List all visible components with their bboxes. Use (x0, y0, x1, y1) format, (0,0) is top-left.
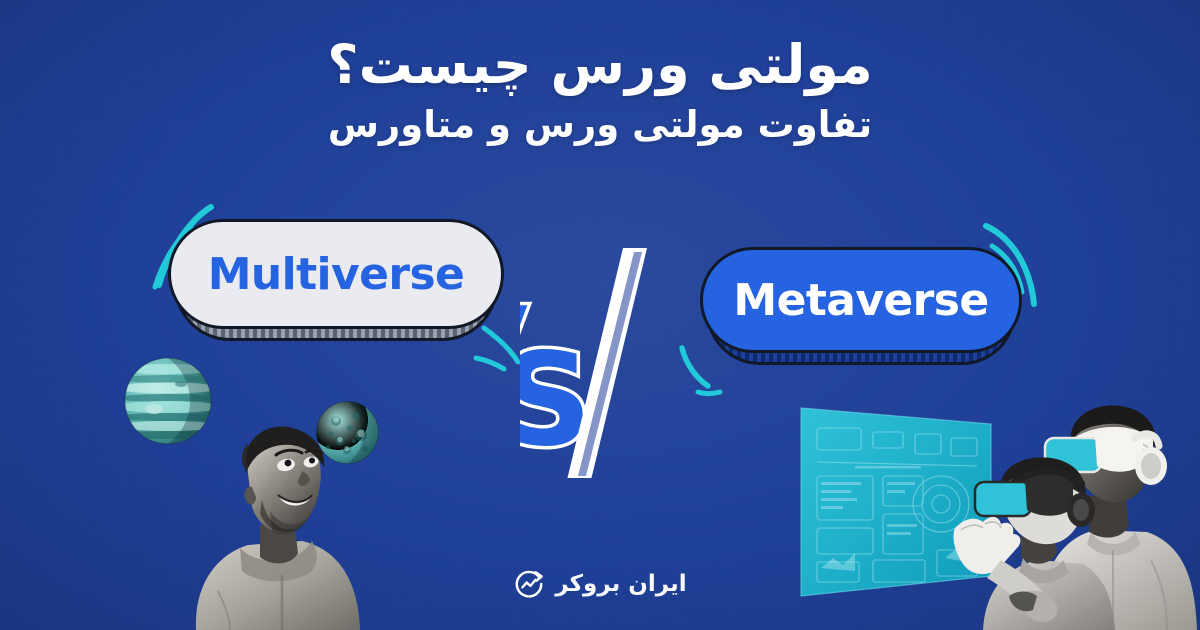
page-title: مولتی ورس چیست؟ (0, 34, 1200, 97)
multiverse-pill-face: Multiverse (168, 219, 504, 329)
brand-logo[interactable]: ایران بروکر (0, 568, 1200, 600)
page-subtitle: تفاوت مولتی ورس و متاورس (0, 103, 1200, 147)
metaverse-pill[interactable]: Metaverse (700, 247, 1022, 353)
heading-block: مولتی ورس چیست؟ تفاوت مولتی ورس و متاورس (0, 34, 1200, 147)
poster-canvas: مولتی ورس چیست؟ تفاوت مولتی ورس و متاورس (0, 0, 1200, 630)
multiverse-label: Multiverse (208, 249, 465, 300)
chart-circle-icon (513, 568, 545, 600)
metaverse-label: Metaverse (733, 275, 988, 326)
brand-logo-text: ایران بروکر (555, 571, 686, 597)
metaverse-pill-face: Metaverse (700, 247, 1022, 353)
vs-divider: V S (520, 248, 690, 478)
multiverse-pill[interactable]: Multiverse (168, 219, 504, 329)
